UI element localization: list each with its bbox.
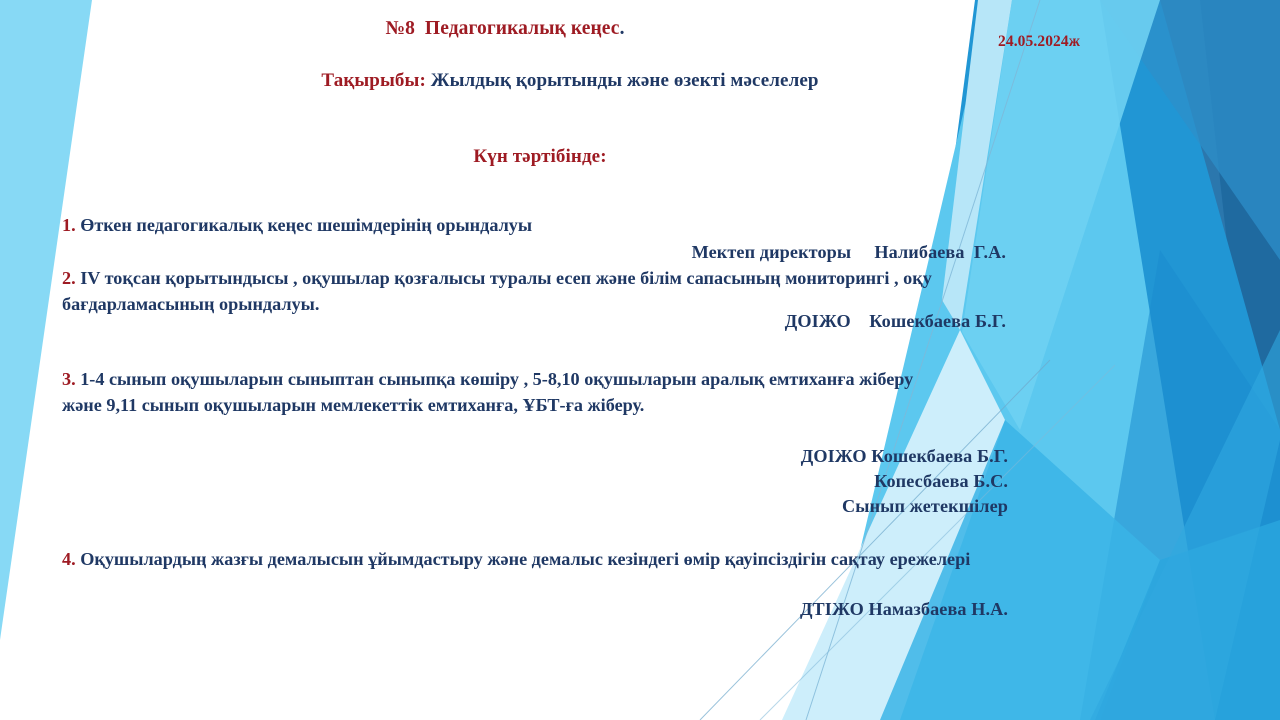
- slide-content: №8 Педагогикалық кеңес. 24.05.2024ж Тақы…: [0, 0, 1280, 720]
- agenda-heading: Күн тәртібінде:: [0, 146, 1080, 168]
- slide-date: 24.05.2024ж: [998, 33, 1080, 51]
- subject-value: Жылдық қорытынды және өзекті мәселелер: [426, 70, 819, 91]
- agenda-item-4-attribution-1: ДТІЖО Намазбаева Н.А.: [240, 599, 1008, 620]
- agenda-item-1-attribution-1: Мектеп директоры Налибаева Г.А.: [240, 242, 1006, 263]
- slide-canvas: №8 Педагогикалық кеңес. 24.05.2024ж Тақы…: [0, 0, 1280, 720]
- agenda-item-1: 1. Өткен педагогикалық кеңес шешімдеріні…: [62, 213, 962, 239]
- agenda-item-4: 4. Оқушылардың жазғы демалысын ұйымдасты…: [62, 547, 997, 573]
- agenda-item-4-number: 4.: [62, 549, 76, 569]
- subject-line: Тақырыбы: Жылдық қорытынды және өзекті м…: [0, 70, 1140, 92]
- agenda-item-4-text: Оқушылардың жазғы демалысын ұйымдастыру …: [76, 549, 971, 569]
- page-title-text: №8 Педагогикалық кеңес: [385, 18, 619, 39]
- agenda-item-2-number: 2.: [62, 268, 76, 288]
- agenda-item-2-text: IV тоқсан қорытындысы , оқушылар қозғалы…: [62, 268, 932, 314]
- subject-label: Тақырыбы:: [321, 70, 425, 91]
- page-title: №8 Педагогикалық кеңес.: [0, 17, 1010, 40]
- agenda-item-3-attribution-1: ДОІЖО Кошекбаева Б.Г.: [240, 446, 1008, 467]
- agenda-item-3-attribution-2: Копесбаева Б.С.: [240, 471, 1008, 492]
- agenda-item-3: 3. 1-4 сынып оқушыларын сыныптан сыныпқа…: [62, 367, 942, 419]
- agenda-item-2: 2. IV тоқсан қорытындысы , оқушылар қозғ…: [62, 266, 942, 318]
- agenda-item-1-number: 1.: [62, 215, 76, 235]
- agenda-item-3-text: 1-4 сынып оқушыларын сыныптан сыныпқа кө…: [62, 369, 913, 415]
- agenda-item-3-attribution-3: Сынып жетекшілер: [240, 496, 1008, 517]
- agenda-item-2-attribution-1: ДОІЖО Кошекбаева Б.Г.: [240, 311, 1006, 332]
- page-title-suffix: .: [620, 18, 625, 39]
- agenda-item-3-number: 3.: [62, 369, 76, 389]
- agenda-item-1-text: Өткен педагогикалық кеңес шешімдерінің о…: [76, 215, 532, 235]
